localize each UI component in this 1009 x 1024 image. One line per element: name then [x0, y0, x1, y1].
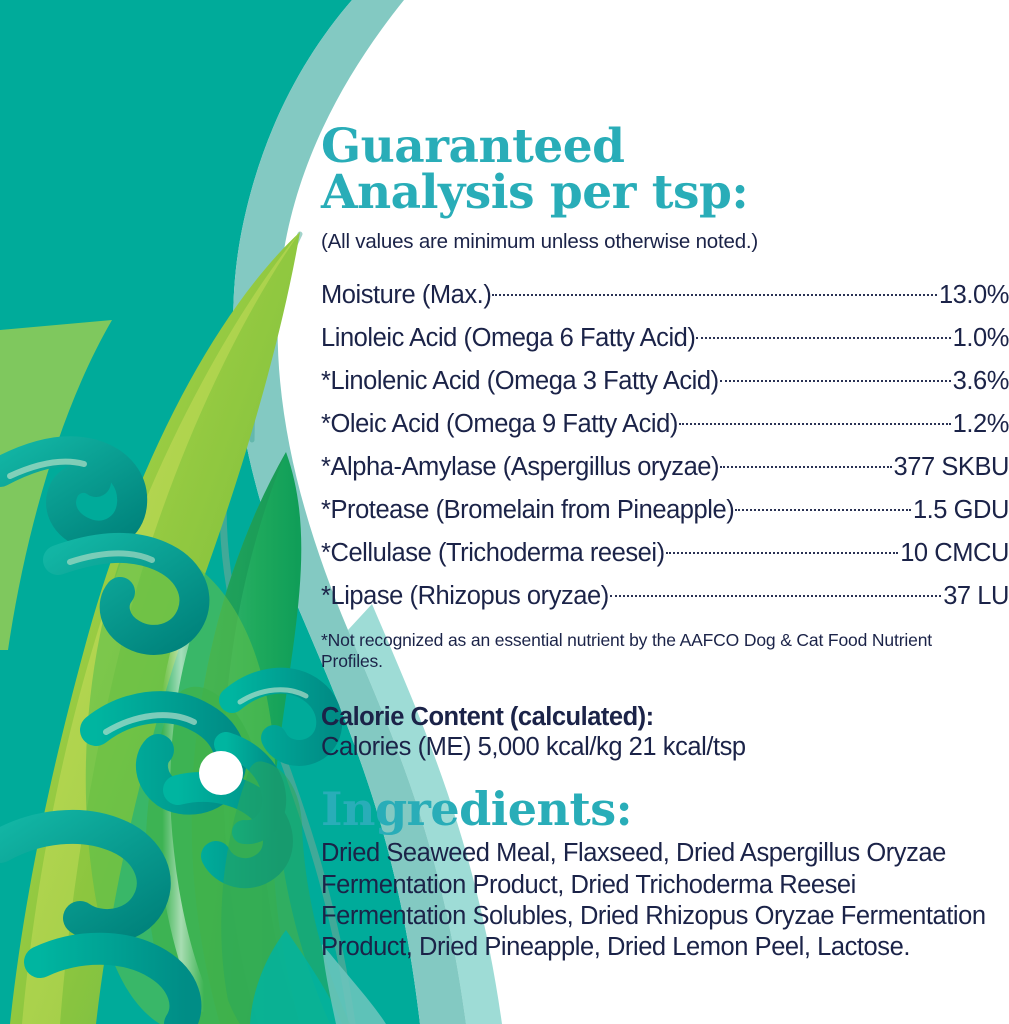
- ga-leader-dots: [492, 278, 937, 304]
- calorie-content-value: Calories (ME) 5,000 kcal/kg 21 kcal/tsp: [321, 733, 1009, 762]
- ingredients-list: Dried Seaweed Meal, Flaxseed, Dried Aspe…: [321, 838, 1001, 963]
- title-line-2: Analysis per tsp:: [321, 170, 1009, 216]
- ga-nutrient-name: *Oleic Acid (Omega 9 Fatty Acid): [321, 412, 678, 438]
- ga-nutrient-name: *Alpha-Amylase (Aspergillus oryzae): [321, 455, 719, 481]
- calorie-content-heading: Calorie Content (calculated):: [321, 703, 1009, 731]
- product-label-card: Guaranteed Analysis per tsp: (All values…: [0, 0, 1009, 1024]
- ga-row: *Oleic Acid (Omega 9 Fatty Acid)1.2%: [321, 401, 1009, 444]
- ga-nutrient-name: Moisture (Max.): [321, 283, 491, 309]
- values-minimum-note: (All values are minimum unless otherwise…: [321, 230, 1009, 255]
- ga-row: Moisture (Max.)13.0%: [321, 272, 1009, 315]
- ga-nutrient-value: 37 LU: [943, 584, 1009, 610]
- calorie-content-block: Calorie Content (calculated): Calories (…: [321, 703, 1009, 762]
- ga-row: *Cellulase (Trichoderma reesei)10 CMCU: [321, 530, 1009, 573]
- ga-nutrient-value: 13.0%: [939, 283, 1009, 309]
- ga-leader-dots: [666, 536, 899, 562]
- ga-leader-dots: [720, 364, 951, 390]
- ga-nutrient-value: 3.6%: [953, 369, 1009, 395]
- ga-nutrient-value: 1.0%: [953, 326, 1009, 352]
- ga-leader-dots: [720, 450, 891, 476]
- ga-row: *Protease (Bromelain from Pineapple)1.5 …: [321, 487, 1009, 530]
- ga-nutrient-name: Linoleic Acid (Omega 6 Fatty Acid): [321, 326, 695, 352]
- ingredients-heading: Ingredients:: [321, 786, 1009, 832]
- ga-row: *Lipase (Rhizopus oryzae)37 LU: [321, 573, 1009, 616]
- ga-nutrient-value: 1.5 GDU: [913, 498, 1009, 524]
- ga-leader-dots: [679, 407, 951, 433]
- guaranteed-analysis-title: Guaranteed Analysis per tsp:: [321, 124, 1009, 216]
- ga-nutrient-name: *Protease (Bromelain from Pineapple): [321, 498, 734, 524]
- ga-row: *Alpha-Amylase (Aspergillus oryzae)377 S…: [321, 444, 1009, 487]
- ga-nutrient-name: *Lipase (Rhizopus oryzae): [321, 584, 609, 610]
- ga-nutrient-value: 10 CMCU: [900, 541, 1009, 567]
- guaranteed-analysis-table: Moisture (Max.)13.0%Linoleic Acid (Omega…: [321, 272, 1009, 616]
- ga-leader-dots: [735, 493, 911, 519]
- ga-nutrient-value: 377 SKBU: [894, 455, 1009, 481]
- ga-nutrient-name: *Linolenic Acid (Omega 3 Fatty Acid): [321, 369, 719, 395]
- ga-nutrient-name: *Cellulase (Trichoderma reesei): [321, 541, 665, 567]
- ga-row: *Linolenic Acid (Omega 3 Fatty Acid)3.6%: [321, 358, 1009, 401]
- ga-leader-dots: [696, 321, 950, 347]
- label-content: Guaranteed Analysis per tsp: (All values…: [321, 124, 1009, 964]
- ga-leader-dots: [610, 579, 941, 605]
- ga-nutrient-value: 1.2%: [953, 412, 1009, 438]
- aafco-footnote: *Not recognized as an essential nutrient…: [321, 630, 986, 672]
- ga-row: Linoleic Acid (Omega 6 Fatty Acid)1.0%: [321, 315, 1009, 358]
